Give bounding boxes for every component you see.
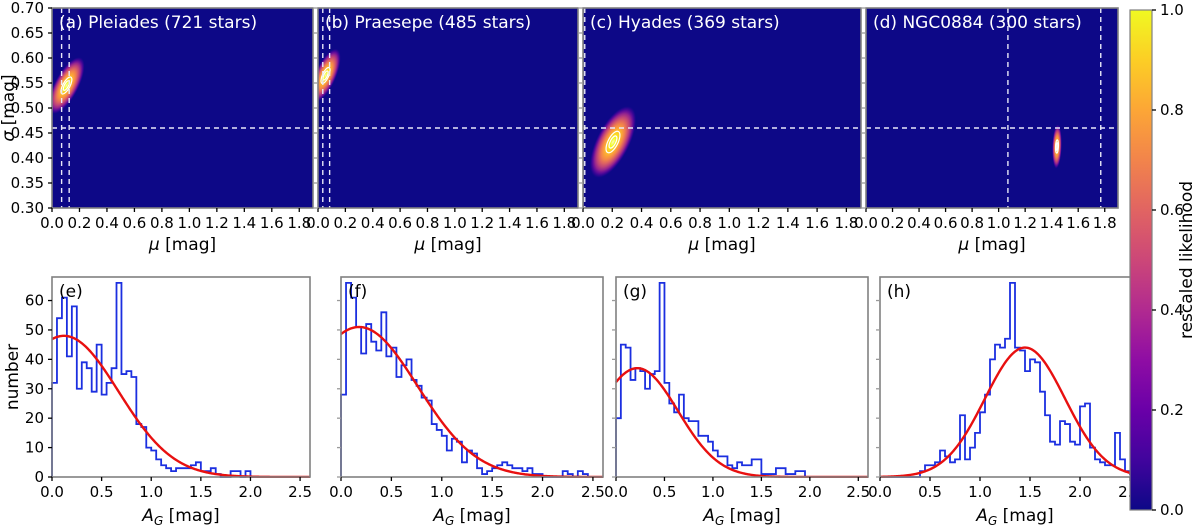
xticklabel-d-4: 0.8	[960, 214, 984, 232]
yaxis-label-top: σ [mag]	[0, 74, 19, 141]
xticklabel-e-1: 0.5	[90, 483, 114, 501]
colorbar	[1130, 10, 1152, 510]
xticklabel-g-0: 0.0	[604, 483, 628, 501]
yticklabel-e-5: 50	[25, 321, 44, 339]
xticklabel-d-6: 1.2	[1013, 214, 1037, 232]
yticklabel-a-7: 0.65	[11, 24, 44, 42]
xticklabel-a-4: 0.8	[150, 214, 174, 232]
xticklabel-b-7: 1.4	[498, 214, 522, 232]
xticklabel-f-3: 1.5	[480, 483, 504, 501]
xticklabel-e-4: 2.0	[239, 483, 263, 501]
xticklabel-d-2: 0.4	[907, 214, 931, 232]
panel-label-b: (b) Praesepe (485 stars)	[325, 13, 531, 33]
panel-label-e: (e)	[59, 282, 83, 302]
xticklabel-h-2: 1.0	[968, 483, 992, 501]
xaxis-label-group-b: μ [mag]	[413, 235, 481, 255]
xticklabel-c-4: 0.8	[688, 214, 712, 232]
xticklabel-f-4: 2.0	[531, 483, 555, 501]
xticklabel-a-6: 1.2	[205, 214, 229, 232]
yaxis-label-top-group: σ [mag]	[0, 74, 19, 141]
panel-d: 0.00.20.40.60.81.01.21.41.61.8(d) NGC088…	[854, 8, 1118, 255]
yticklabel-a-0: 0.30	[11, 199, 44, 217]
xaxis-label-group-c: μ [mag]	[687, 235, 755, 255]
colorbar-label: rescaled likelihood	[1177, 181, 1197, 339]
yaxis-label-bottom: number	[3, 344, 23, 410]
yticklabel-e-6: 60	[25, 292, 44, 310]
xticklabel-h-3: 1.5	[1018, 483, 1042, 501]
plot-background-f	[341, 277, 603, 477]
yaxis-label-bottom-group: number	[3, 344, 23, 410]
xticklabel-h-0: 0.0	[868, 483, 892, 501]
xticklabel-f-2: 1.0	[430, 483, 454, 501]
xticklabel-a-3: 0.6	[122, 214, 146, 232]
xticklabel-g-4: 2.0	[798, 483, 822, 501]
colorbar-ticklabel-5: 1.0	[1160, 1, 1184, 19]
xaxis-label-g: AG [mag]	[702, 506, 780, 528]
xticklabel-e-2: 1.0	[139, 483, 163, 501]
heatmap-background-a	[52, 8, 313, 208]
xticklabel-b-8: 1.6	[525, 214, 549, 232]
xticklabel-d-5: 1.0	[987, 214, 1011, 232]
xticklabel-h-4: 2.0	[1068, 483, 1092, 501]
yticklabel-a-6: 0.60	[11, 49, 44, 67]
xticklabel-c-1: 0.2	[600, 214, 624, 232]
xticklabel-a-1: 0.2	[68, 214, 92, 232]
colorbar-ticklabel-0: 0.0	[1160, 501, 1184, 519]
xticklabel-c-5: 1.0	[717, 214, 741, 232]
xaxis-label-a: μ [mag]	[148, 235, 216, 255]
xticklabel-c-2: 0.4	[630, 214, 654, 232]
xaxis-label-f: AG [mag]	[432, 506, 510, 528]
xticklabel-b-6: 1.2	[470, 214, 494, 232]
yticklabel-e-2: 20	[25, 409, 44, 427]
xaxis-label-h: AG [mag]	[975, 506, 1053, 528]
xticklabel-f-0: 0.0	[329, 483, 353, 501]
xticklabel-c-8: 1.6	[805, 214, 829, 232]
xticklabel-d-8: 1.6	[1066, 214, 1090, 232]
panel-a: 0.00.20.40.60.81.01.21.41.61.80.300.350.…	[11, 0, 313, 255]
xticklabel-f-1: 0.5	[379, 483, 403, 501]
xticklabel-d-9: 1.8	[1093, 214, 1117, 232]
panel-label-c: (c) Hyades (369 stars)	[590, 13, 780, 33]
xticklabel-b-2: 0.4	[361, 214, 385, 232]
yticklabel-e-3: 30	[25, 380, 44, 398]
colorbar-ticklabel-1: 0.2	[1160, 401, 1184, 419]
plot-background-e	[52, 277, 310, 477]
xticklabel-b-4: 0.8	[416, 214, 440, 232]
xticklabel-d-1: 0.2	[881, 214, 905, 232]
heatmap-background-b	[318, 8, 578, 208]
xticklabel-b-0: 0.0	[306, 214, 330, 232]
xticklabel-c-0: 0.0	[571, 214, 595, 232]
xticklabel-g-3: 1.5	[749, 483, 773, 501]
yticklabel-a-8: 0.70	[11, 0, 44, 17]
xticklabel-b-3: 0.6	[388, 214, 412, 232]
panel-label-f: (f)	[348, 282, 367, 302]
xticklabel-d-3: 0.6	[934, 214, 958, 232]
xaxis-label-group-a: μ [mag]	[148, 235, 216, 255]
yticklabel-e-1: 10	[25, 439, 44, 457]
figure-canvas: 0.00.20.40.60.81.01.21.41.61.80.300.350.…	[0, 0, 1200, 530]
xticklabel-c-3: 0.6	[659, 214, 683, 232]
yticklabel-e-0: 0	[34, 468, 44, 486]
xticklabel-e-3: 1.5	[189, 483, 213, 501]
panel-label-h: (h)	[887, 282, 911, 302]
xticklabel-c-6: 1.2	[747, 214, 771, 232]
panel-label-g: (g)	[623, 282, 647, 302]
xticklabel-h-1: 0.5	[918, 483, 942, 501]
xticklabel-g-5: 2.5	[846, 483, 870, 501]
panel-label-d: (d) NGC0884 (300 stars)	[873, 13, 1082, 33]
panel-label-a: (a) Pleiades (721 stars)	[59, 13, 257, 33]
xaxis-label-b: μ [mag]	[413, 235, 481, 255]
xticklabel-a-7: 1.4	[232, 214, 256, 232]
xaxis-label-e: AG [mag]	[141, 506, 219, 528]
yticklabel-a-2: 0.40	[11, 149, 44, 167]
colorbar-ticklabel-4: 0.8	[1160, 101, 1184, 119]
xticklabel-a-5: 1.0	[177, 214, 201, 232]
yticklabel-a-1: 0.35	[11, 174, 44, 192]
xticklabel-f-5: 2.5	[581, 483, 605, 501]
xticklabel-e-5: 2.5	[288, 483, 312, 501]
yticklabel-e-4: 40	[25, 350, 44, 368]
xaxis-label-c: μ [mag]	[687, 235, 755, 255]
xaxis-label-group-d: μ [mag]	[957, 235, 1025, 255]
xticklabel-d-0: 0.0	[854, 214, 878, 232]
xticklabel-d-7: 1.4	[1040, 214, 1064, 232]
xticklabel-a-2: 0.4	[95, 214, 119, 232]
xticklabel-b-5: 1.0	[443, 214, 467, 232]
xticklabel-g-2: 1.0	[701, 483, 725, 501]
heatmap-background-d	[866, 8, 1118, 208]
xticklabel-c-7: 1.4	[776, 214, 800, 232]
xticklabel-a-8: 1.6	[260, 214, 284, 232]
figure-root: 0.00.20.40.60.81.01.21.41.61.80.300.350.…	[0, 0, 1200, 530]
xticklabel-b-1: 0.2	[333, 214, 357, 232]
xticklabel-g-1: 0.5	[653, 483, 677, 501]
xaxis-label-d: μ [mag]	[957, 235, 1025, 255]
